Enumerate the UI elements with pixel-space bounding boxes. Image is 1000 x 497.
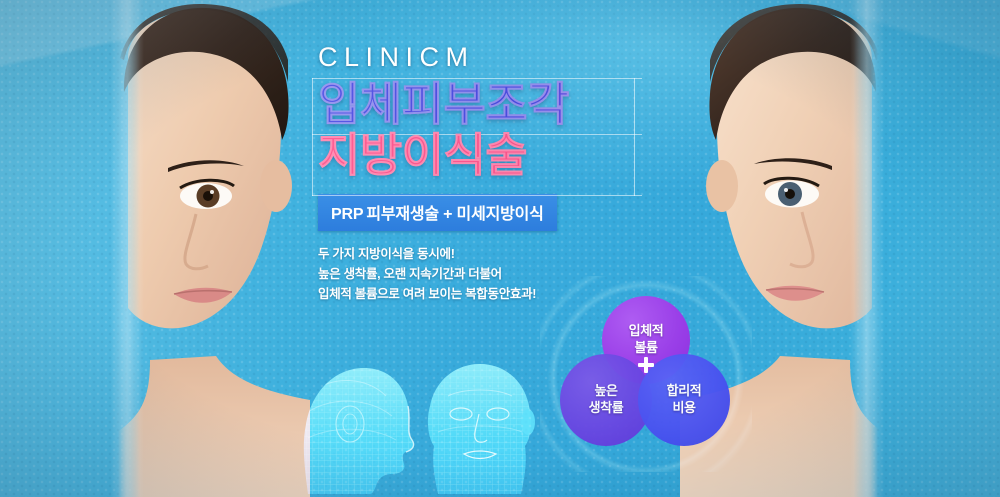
model-left-photo [0,0,310,497]
venn-survival-line1: 높은 [594,383,617,398]
pill-rest-label: 피부재생술 + 미세지방이식 [366,206,543,223]
venn-cost-line1: 합리적 [667,383,702,398]
wireframe-heads-graphic [288,352,538,497]
venn-diagram: 입체적 볼륨 높은 생착률 합리적 비용 [560,296,730,448]
headline-line-2: 지방이식술 [318,131,678,180]
pill-prp-label: PRP [331,206,363,223]
venn-circle-survival-label: 높은 생착률 [589,383,624,416]
treatment-pill: PRP피부재생술 + 미세지방이식 [318,194,557,231]
venn-volume-line1: 입체적 [629,323,664,338]
headline-line-1: 입체피부조각 [318,80,678,129]
body-copy-line-2: 높은 생착률, 오랜 지속기간과 더불어 [318,264,678,284]
body-copy-line-1: 두 가지 지방이식을 동시에! [318,244,678,264]
wireframe-head-profile [288,352,428,497]
venn-circle-volume-label: 입체적 볼륨 [629,323,664,356]
woman-portrait-left-illustration [0,0,310,497]
promo-banner: CLINICM 입체피부조각 지방이식술 PRP피부재생술 + 미세지방이식 두… [0,0,1000,497]
venn-plus-icon [638,357,654,373]
venn-cost-line2: 비용 [672,400,695,415]
venn-circle-cost-label: 합리적 비용 [667,383,702,416]
venn-survival-line2: 생착률 [589,400,624,415]
brand-wordmark: CLINICM [318,42,678,73]
wireframe-head-front [423,352,538,497]
headline-copy-block: CLINICM 입체피부조각 지방이식술 PRP피부재생술 + 미세지방이식 두… [318,42,678,304]
venn-volume-line2: 볼륨 [634,340,657,355]
